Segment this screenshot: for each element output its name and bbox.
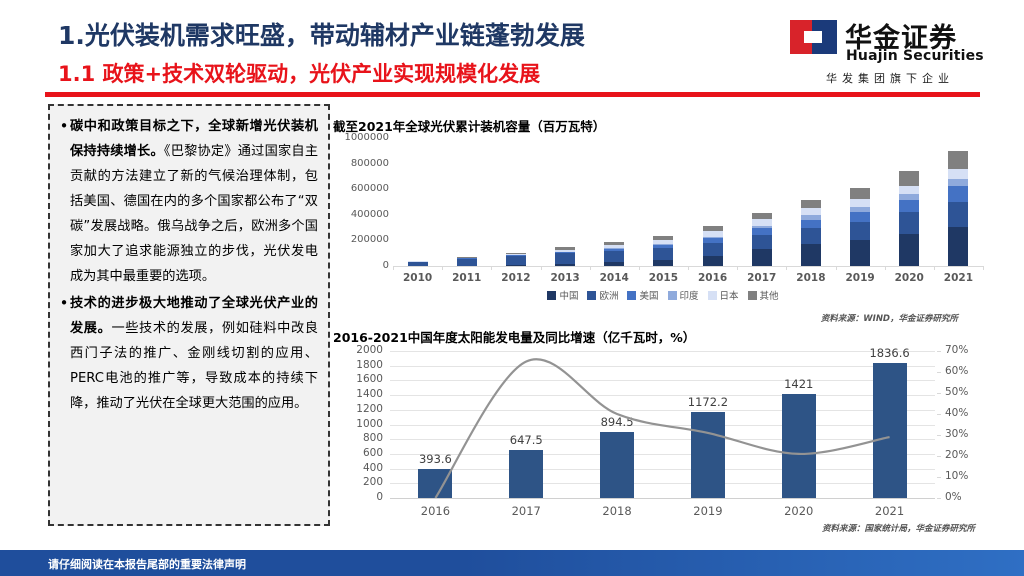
chart2-y-left-tick-label: 600 — [333, 447, 383, 459]
chart2-y-right-tick — [937, 498, 941, 499]
chart2-y-left-tick-label: 1600 — [333, 373, 383, 385]
chart1-legend-label: 其他 — [760, 288, 779, 302]
chart1-stacked-bar — [752, 213, 772, 266]
chart1-bar-segment — [801, 228, 821, 244]
chart1-bar-segment — [899, 171, 919, 186]
chart1-x-tick-label: 2021 — [934, 272, 983, 284]
chart2-y-left-tick-label: 2000 — [333, 344, 383, 356]
chart1-bar-segment — [850, 199, 870, 207]
chart2-y-right-tick — [937, 435, 941, 436]
chart1-legend-item: 印度 — [668, 288, 699, 302]
chart2-y-left-tick-label: 1000 — [333, 418, 383, 430]
chart1-stacked-bar — [555, 247, 575, 266]
chart1-y-tick-label: 200000 — [333, 234, 389, 245]
chart2-y-right-tick — [937, 477, 941, 478]
chart1-legend-label: 美国 — [639, 288, 658, 302]
chart2-x-tick-label: 2018 — [572, 504, 663, 518]
footer-note: 请仔细阅读在本报告尾部的重要法律声明 — [48, 556, 246, 572]
chart-global-pv-capacity: 截至2021年全球光伏累计装机容量（百万瓦特） 0200000400000600… — [333, 116, 993, 316]
chart1-x-tick — [393, 266, 394, 270]
footer-bar: 请仔细阅读在本报告尾部的重要法律声明 — [0, 550, 1024, 576]
logo-mark-icon — [790, 20, 837, 54]
page-subtitle: 1.1 政策+技术双轮驱动，光伏产业实现规模化发展 — [58, 58, 540, 88]
chart1-x-tick — [491, 266, 492, 270]
chart1-stacked-bar — [850, 188, 870, 266]
chart1-bar-segment — [948, 179, 968, 187]
chart2-y-right-tick — [937, 372, 941, 373]
chart1-x-tick-label: 2017 — [737, 272, 786, 284]
chart1-stacked-bar — [653, 236, 673, 266]
chart2-source: 资料来源：国家统计局，华金证券研究所 — [822, 522, 975, 534]
chart2-y-right-tick — [937, 351, 941, 352]
chart1-x-tick-label: 2011 — [442, 272, 491, 284]
chart2-y-right-tick-label: 20% — [945, 449, 985, 461]
chart1-legend-item: 其他 — [748, 288, 779, 302]
bullet-item: • 技术的进步极大地推动了全球光伏产业的发展。一些技术的发展，例如硅料中改良西门… — [58, 291, 318, 416]
slide-root: 1.光伏装机需求旺盛，带动辅材产业链蓬勃发展 1.1 政策+技术双轮驱动，光伏产… — [0, 0, 1024, 576]
chart2-y-left-tick-label: 200 — [333, 476, 383, 488]
chart1-x-tick — [737, 266, 738, 270]
chart1-legend-label: 中国 — [559, 288, 578, 302]
chart2-y-right-tick-label: 30% — [945, 428, 985, 440]
header-divider — [45, 92, 980, 97]
chart2-y-left-tick-label: 1400 — [333, 388, 383, 400]
chart1-x-tick-label: 2015 — [639, 272, 688, 284]
chart1-x-tick — [983, 266, 984, 270]
chart2-y-left-tick-label: 400 — [333, 462, 383, 474]
bullet-body-text: 《巴黎协定》通过国家自主贡献的方法建立了新的气候治理体制，包括美国、德国在内的多… — [70, 144, 318, 284]
chart1-bar-segment — [850, 222, 870, 240]
chart1-bar-segment — [850, 212, 870, 222]
chart2-y-right-tick — [937, 414, 941, 415]
chart1-x-tick-label: 2014 — [590, 272, 639, 284]
chart1-bar-segment — [653, 248, 673, 260]
chart1-x-tick-label: 2016 — [688, 272, 737, 284]
chart1-x-tick-label: 2013 — [541, 272, 590, 284]
chart2-y-right-tick-label: 40% — [945, 407, 985, 419]
chart1-legend-label: 欧洲 — [599, 288, 618, 302]
chart1-bar-segment — [752, 249, 772, 266]
chart2-y-left-tick-label: 1800 — [333, 359, 383, 371]
chart1-bar-segment — [801, 244, 821, 266]
chart1-legend-label: 印度 — [680, 288, 699, 302]
chart1-stacked-bar — [703, 226, 723, 266]
chart1-legend-item: 日本 — [708, 288, 739, 302]
chart1-legend-label: 日本 — [720, 288, 739, 302]
chart1-x-tick — [934, 266, 935, 270]
chart2-x-tick-label: 2021 — [844, 504, 935, 518]
chart2-y-left-tick-label: 800 — [333, 432, 383, 444]
chart1-bar-segment — [703, 243, 723, 256]
chart1-bar-segment — [703, 256, 723, 266]
chart2-y-right-tick — [937, 456, 941, 457]
chart1-bar-segment — [752, 235, 772, 250]
chart1-y-tick-label: 400000 — [333, 209, 389, 220]
chart1-legend-swatch — [748, 291, 757, 300]
chart1-bar-segment — [948, 169, 968, 178]
chart1-stacked-bar — [948, 151, 968, 266]
chart1-stacked-bar — [457, 257, 477, 266]
chart1-y-tick-label: 600000 — [333, 183, 389, 194]
chart2-y-right-tick-label: 70% — [945, 344, 985, 356]
chart2-x-tick-label: 2020 — [753, 504, 844, 518]
chart1-legend-item: 美国 — [627, 288, 658, 302]
chart1-bar-segment — [801, 208, 821, 215]
chart1-legend-swatch — [708, 291, 717, 300]
chart1-bar-segment — [850, 240, 870, 266]
chart1-bar-segment — [457, 259, 477, 266]
chart2-growth-line — [390, 351, 935, 498]
chart1-bar-segment — [899, 186, 919, 195]
chart1-x-tick — [590, 266, 591, 270]
chart2-baseline — [390, 498, 935, 499]
chart1-bar-segment — [899, 212, 919, 233]
chart1-legend-swatch — [587, 291, 596, 300]
bullet-dot-icon: • — [58, 114, 70, 289]
chart1-x-tick — [836, 266, 837, 270]
chart1-bar-segment — [801, 200, 821, 208]
chart1-legend-swatch — [627, 291, 636, 300]
chart1-x-tick-label: 2018 — [786, 272, 835, 284]
chart1-bar-segment — [948, 186, 968, 202]
chart2-y-right-tick-label: 50% — [945, 386, 985, 398]
chart1-stacked-bar — [506, 253, 526, 266]
chart1-plot-area — [393, 138, 983, 266]
chart1-bar-segment — [899, 200, 919, 212]
chart1-x-tick-label: 2012 — [491, 272, 540, 284]
chart1-y-tick-label: 0 — [333, 260, 389, 271]
chart2-y-right-tick-label: 0% — [945, 491, 985, 503]
chart1-stacked-bar — [899, 171, 919, 266]
chart2-x-tick-label: 2016 — [390, 504, 481, 518]
chart1-x-tick-label: 2019 — [836, 272, 885, 284]
chart-china-solar-generation: 2016-2021中国年度太阳能发电量及同比增速（亿千瓦时，%） 393.664… — [333, 327, 993, 547]
chart1-x-tick — [541, 266, 542, 270]
chart1-x-tick — [885, 266, 886, 270]
chart1-bar-segment — [752, 213, 772, 220]
chart1-y-tick-label: 800000 — [333, 158, 389, 169]
chart1-legend-item: 欧洲 — [587, 288, 618, 302]
bullet-dot-icon: • — [58, 291, 70, 416]
chart2-x-tick-label: 2019 — [663, 504, 754, 518]
chart1-x-tick-label: 2010 — [393, 272, 442, 284]
logo-tagline: 华发集团旗下企业 — [792, 70, 988, 86]
chart2-y-right-tick — [937, 393, 941, 394]
chart1-bar-segment — [850, 188, 870, 199]
chart1-legend-item: 中国 — [547, 288, 578, 302]
chart1-bar-segment — [948, 227, 968, 266]
chart1-x-tick — [639, 266, 640, 270]
chart1-legend: 中国欧洲美国印度日本其他 — [333, 288, 993, 302]
chart1-bar-segment — [801, 220, 821, 228]
bullet-item: • 碳中和政策目标之下，全球新增光伏装机保持持续增长。《巴黎协定》通过国家自主贡… — [58, 114, 318, 289]
logo-name-en: Huajin Securities — [846, 48, 984, 64]
chart1-bar-segment — [555, 253, 575, 263]
chart2-x-tick-label: 2017 — [481, 504, 572, 518]
chart1-bar-segment — [506, 256, 526, 265]
chart2-y-left-tick-label: 0 — [333, 491, 383, 503]
chart1-legend-swatch — [547, 291, 556, 300]
chart2-y-left-tick-label: 1200 — [333, 403, 383, 415]
chart2-y-right-tick-label: 10% — [945, 470, 985, 482]
chart1-x-tick — [786, 266, 787, 270]
chart1-source: 资料来源：WIND，华金证券研究所 — [821, 312, 958, 324]
chart1-legend-swatch — [668, 291, 677, 300]
chart1-bar-segment — [899, 234, 919, 266]
chart1-x-tick — [442, 266, 443, 270]
page-title: 1.光伏装机需求旺盛，带动辅材产业链蓬勃发展 — [58, 16, 585, 52]
chart1-stacked-bar — [604, 242, 624, 266]
chart1-bar-segment — [948, 151, 968, 170]
chart1-stacked-bar — [801, 200, 821, 266]
chart2-y-right-tick-label: 60% — [945, 365, 985, 377]
chart1-x-tick-label: 2020 — [885, 272, 934, 284]
bullet-panel: • 碳中和政策目标之下，全球新增光伏装机保持持续增长。《巴黎协定》通过国家自主贡… — [48, 104, 330, 526]
chart2-title: 2016-2021中国年度太阳能发电量及同比增速（亿千瓦时，%） — [333, 327, 695, 346]
company-logo: 华金证券 Huajin Securities 华发集团旗下企业 — [790, 18, 990, 88]
chart1-bar-segment — [604, 251, 624, 262]
chart1-x-tick — [688, 266, 689, 270]
chart2-plot-area: 393.6647.5894.51172.214211836.6 — [390, 351, 935, 498]
chart1-bar-segment — [948, 202, 968, 227]
chart1-y-tick-label: 1000000 — [333, 132, 389, 143]
